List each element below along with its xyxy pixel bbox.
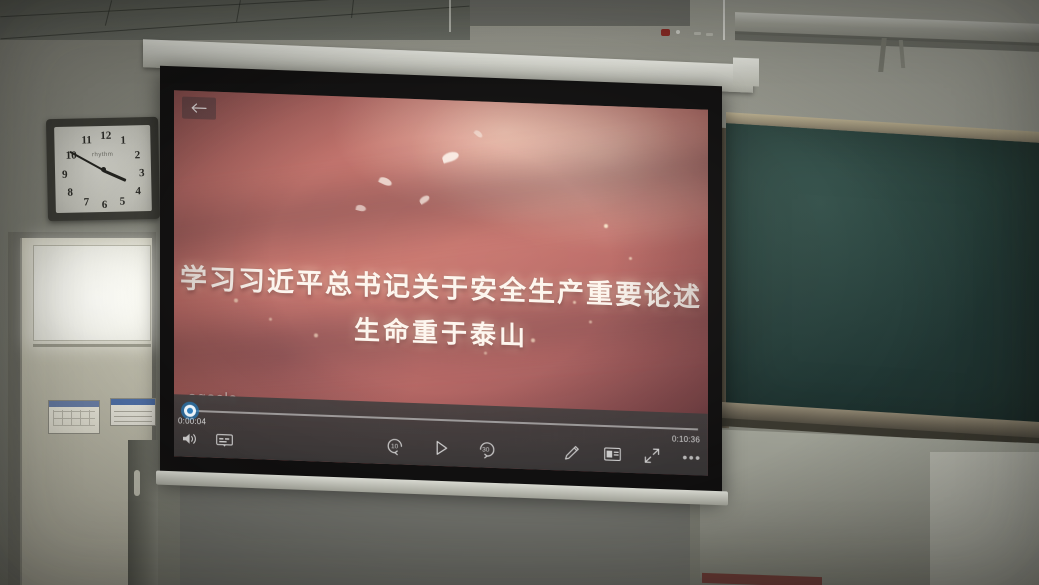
svg-text:10: 10 [391,443,399,450]
mini-view-button[interactable] [602,444,622,465]
fullscreen-button[interactable] [642,445,662,466]
back-button[interactable] [182,97,216,120]
door-notice-left-header [49,401,99,407]
right-controls-group: ••• [562,442,702,467]
clock-center-pin [100,166,105,171]
clock-numeral-8: 8 [67,187,73,199]
pencil-icon [564,445,580,462]
ellipsis-icon: ••• [682,450,701,465]
door-handle[interactable] [134,470,140,496]
center-controls-group: 10 30 [385,436,497,460]
door-notice-right-text [114,408,152,422]
blackboard-sheen [726,123,1039,443]
clock-numeral-4: 4 [135,185,141,197]
clock-numeral-2: 2 [135,149,141,161]
volume-button[interactable] [180,428,200,449]
door-notice-right-header [111,399,155,405]
current-time-label: 0:00:04 [178,416,206,426]
clock-numeral-9: 9 [62,169,68,181]
clock-brand-label: rhythm [92,152,113,158]
play-button[interactable] [431,438,451,459]
fast-forward-button[interactable]: 30 [477,439,497,460]
hanger-wire-left [449,0,451,32]
housing-button-down[interactable] [706,33,713,36]
play-icon [434,440,449,457]
clock-numeral-3: 3 [139,167,145,179]
rewind-button[interactable]: 10 [385,436,405,457]
housing-button-up[interactable] [694,32,701,35]
wall-corner-right [930,452,1039,585]
door-jamb [128,440,158,585]
closed-captions-icon [216,433,233,447]
fullscreen-icon [644,447,660,464]
volume-icon [182,431,199,446]
projection-screen: 学习习近平总书记关于安全生产重要论述 生命重于泰山 aqscls 0:00:04… [160,66,722,499]
total-time-label: 0:10:36 [672,434,700,444]
svg-text:30: 30 [482,447,490,454]
clock-numeral-7: 7 [84,196,90,208]
clock-numeral-6: 6 [102,199,108,211]
seek-track[interactable] [184,410,698,431]
edit-button[interactable] [562,442,582,463]
more-options-button[interactable]: ••• [682,447,702,468]
door-rail [33,344,151,347]
clock-hour-hand [102,169,126,182]
mini-view-icon [604,447,621,462]
door-notice-right [110,398,156,426]
forward-30-icon: 30 [477,440,497,459]
status-led-icon [676,30,680,34]
left-controls-group [180,428,234,450]
hanger-wire [723,0,725,40]
back-arrow-icon [191,103,207,114]
screenshot-root: rhythm 12 1 2 3 4 5 6 7 8 9 10 11 [0,0,1039,585]
wall-clock: rhythm 12 1 2 3 4 5 6 7 8 9 10 11 [46,117,160,221]
captions-button[interactable] [214,430,234,451]
control-button-row: 10 30 [174,428,708,474]
rewind-10-icon: 10 [385,437,405,456]
clock-numeral-12: 12 [100,130,111,142]
door-glass-pane [33,245,151,341]
ceiling-panels [0,0,470,40]
clock-numeral-1: 1 [120,135,126,147]
clock-numeral-11: 11 [81,134,92,146]
projector-screen-housing-endcap [733,57,759,86]
seek-thumb[interactable] [184,405,196,417]
door-notice-left-table [53,410,95,426]
video-surface[interactable]: 学习习近平总书记关于安全生产重要论述 生命重于泰山 aqscls 0:00:04… [174,90,708,476]
ir-sensor-icon [661,29,670,36]
clock-numeral-5: 5 [120,196,126,208]
door-notice-left [48,400,100,434]
clock-face: rhythm 12 1 2 3 4 5 6 7 8 9 10 11 [54,125,152,213]
blackboard [726,123,1039,443]
